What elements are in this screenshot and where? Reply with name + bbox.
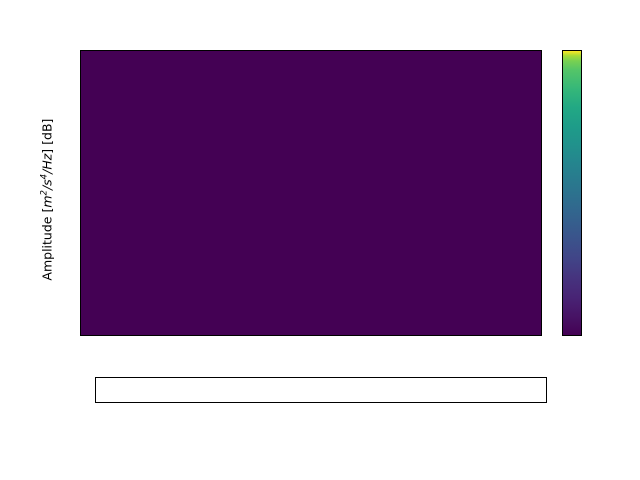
colorbar[interactable]: [562, 50, 582, 336]
ppsd-plot-area[interactable]: [80, 50, 542, 336]
noise-model-layer: [81, 51, 541, 335]
y-axis-label-text: Amplitude [m2/s4/Hz] [dB]: [40, 119, 55, 281]
ppsd-figure: Amplitude [m2/s4/Hz] [dB]: [0, 0, 640, 480]
ppsd-canvas: [81, 51, 541, 335]
y-axis-label: Amplitude [m2/s4/Hz] [dB]: [39, 50, 54, 350]
data-coverage-bar[interactable]: [95, 377, 547, 403]
